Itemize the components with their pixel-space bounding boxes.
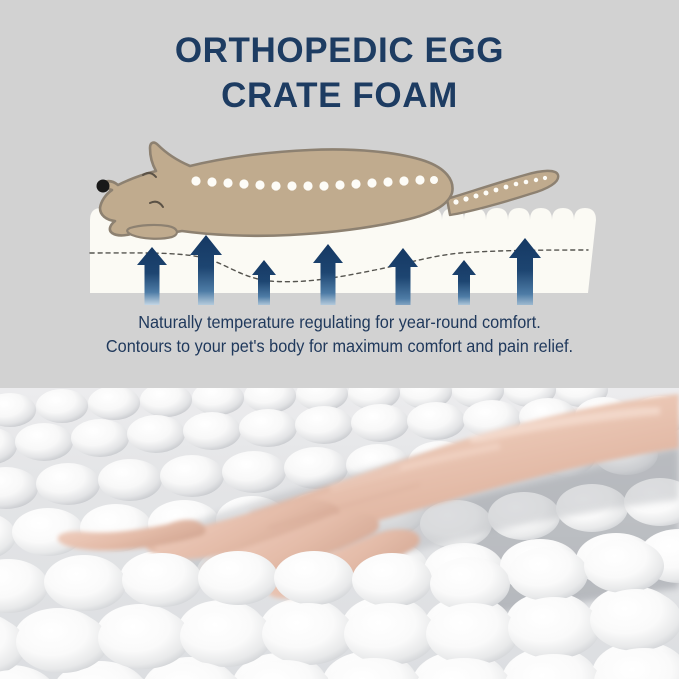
dog-on-foam-illustration xyxy=(0,120,679,305)
caption-line-1: Naturally temperature regulating for yea… xyxy=(24,310,655,334)
title-line-1: ORTHOPEDIC EGG xyxy=(0,28,679,73)
dog-front-paw xyxy=(127,225,177,239)
product-feature-graphic: ORTHOPEDIC EGG CRATE FOAM xyxy=(0,0,679,679)
page-title: ORTHOPEDIC EGG CRATE FOAM xyxy=(0,28,679,118)
foam-photo xyxy=(0,388,679,679)
dog-nose xyxy=(97,180,110,193)
hand-on-foam-image xyxy=(0,388,679,679)
caption-block: Naturally temperature regulating for yea… xyxy=(24,310,655,358)
title-line-2: CRATE FOAM xyxy=(0,73,679,118)
caption-line-2: Contours to your pet's body for maximum … xyxy=(24,334,655,358)
info-panel: ORTHOPEDIC EGG CRATE FOAM xyxy=(0,0,679,388)
